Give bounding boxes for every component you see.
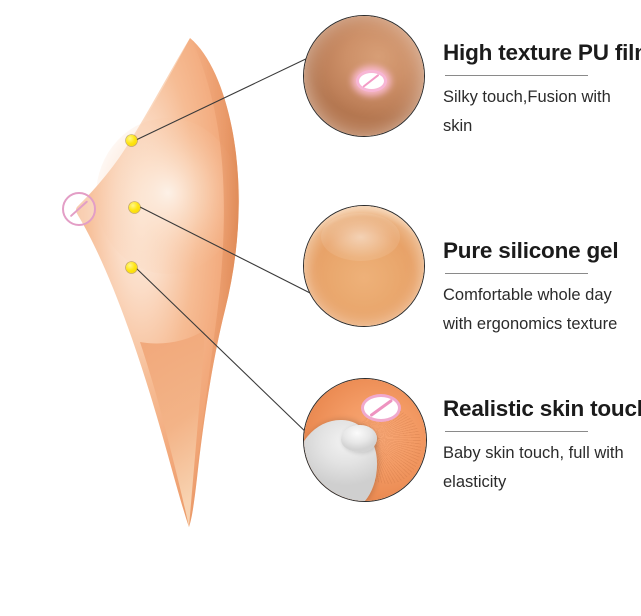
feature-description: Comfortable whole day with ergonomics te…: [443, 281, 638, 339]
prohibition-censor-icon: [356, 70, 387, 92]
gloved-hand-squeezing-photo: [304, 379, 426, 501]
feature-block-pure-silicone-gel: Pure silicone gel Comfortable whole day …: [443, 238, 641, 339]
feature-block-high-texture-pu-film: High texture PU film Silky touch,Fusion …: [443, 40, 641, 141]
feature-description: Silky touch,Fusion with skin: [443, 83, 638, 141]
feature-divider: [445, 431, 588, 432]
silicone-gel-closeup-photo: [304, 206, 424, 326]
feature-title: High texture PU film: [443, 40, 641, 66]
feature-title: Realistic skin touch: [443, 396, 641, 422]
prohibition-censor-icon: [62, 192, 96, 226]
prohibition-censor-icon: [361, 394, 401, 422]
feature-divider: [445, 273, 588, 274]
marker-dot-2[interactable]: [129, 202, 140, 213]
feature-divider: [445, 75, 588, 76]
glove-finger: [341, 425, 378, 452]
gel-sheen-highlight: [321, 213, 400, 261]
marker-dot-1[interactable]: [126, 135, 137, 146]
callout-photo-realistic-skin-touch[interactable]: [303, 378, 427, 502]
marker-dot-3[interactable]: [126, 262, 137, 273]
breast-form-silhouette: [76, 38, 240, 527]
censor-slash: [70, 200, 89, 217]
feature-description: Baby skin touch, full with elasticity: [443, 439, 638, 497]
feature-title: Pure silicone gel: [443, 238, 641, 264]
censor-slash: [370, 399, 393, 417]
censor-slash: [362, 74, 379, 88]
callout-photo-pure-silicone-gel[interactable]: [303, 205, 425, 327]
product-feature-infographic: High texture PU film Silky touch,Fusion …: [0, 0, 641, 616]
callout-photo-high-texture-pu-film[interactable]: [303, 15, 425, 137]
feature-block-realistic-skin-touch: Realistic skin touch Baby skin touch, fu…: [443, 396, 641, 497]
